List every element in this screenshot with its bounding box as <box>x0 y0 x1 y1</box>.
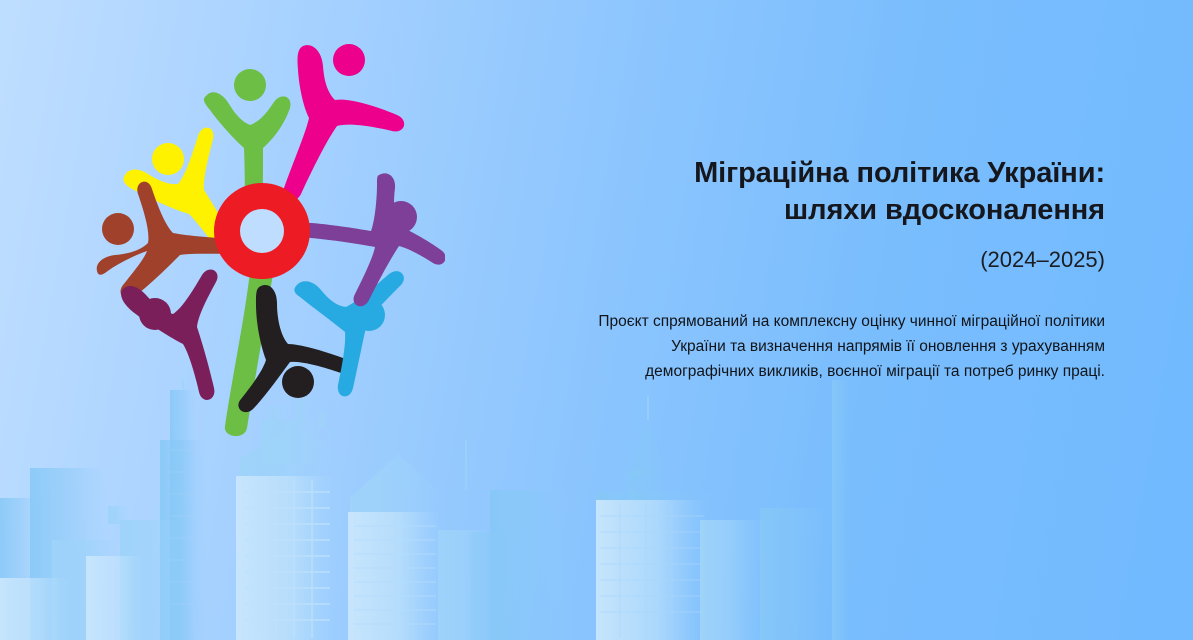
figure-purple <box>302 173 445 306</box>
page-title-line-1: Міграційна політика України: <box>575 155 1105 192</box>
red-ring <box>214 183 310 279</box>
figure-maroon <box>121 269 218 400</box>
project-period: (2024–2025) <box>575 247 1105 273</box>
slide-text-block: Міграційна політика України: шляхи вдоск… <box>575 155 1105 385</box>
page-title-line-2: шляхи вдосконалення <box>575 192 1105 229</box>
dandelion-people-logo <box>95 22 445 442</box>
project-description: Проєкт спрямований на комплексну оцінку … <box>575 309 1105 384</box>
page-title: Міграційна політика України: шляхи вдоск… <box>575 155 1105 229</box>
presentation-slide: Міграційна політика України: шляхи вдоск… <box>0 0 1193 640</box>
